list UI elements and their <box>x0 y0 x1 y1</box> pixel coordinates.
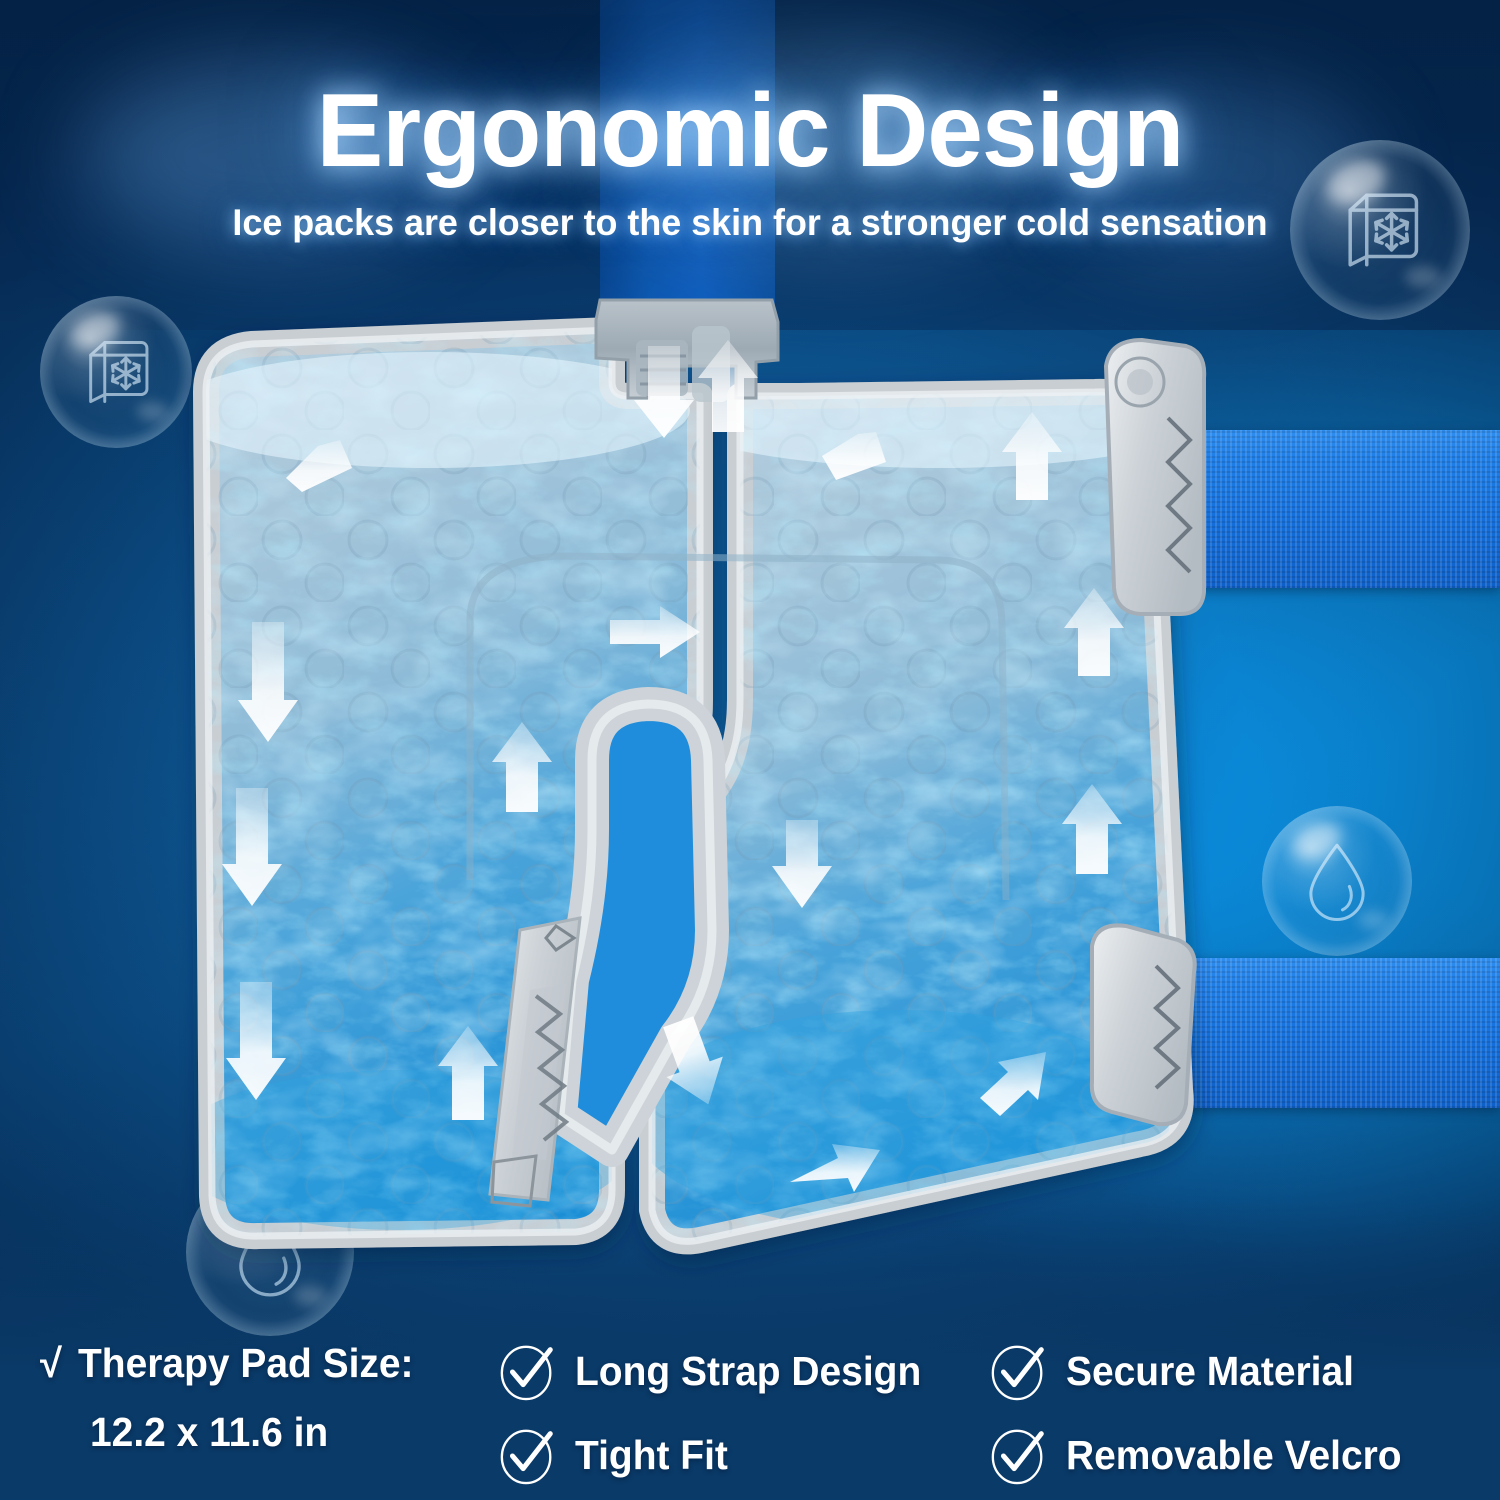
heading-block: Ergonomic Design Ice packs are closer to… <box>0 78 1500 244</box>
circled-check-icon <box>988 1424 1050 1486</box>
feature-label: Removable Velcro <box>1066 1432 1402 1479</box>
page-title: Ergonomic Design <box>30 78 1470 184</box>
feature-item: Secure Material <box>988 1340 1460 1402</box>
feature-column-2: Long Strap Design Tight Fit <box>497 1340 988 1486</box>
feature-item: Tight Fit <box>497 1424 988 1486</box>
circled-check-icon <box>988 1340 1050 1402</box>
check-glyph-icon: √ <box>40 1344 62 1384</box>
upper-strap-tab <box>1106 340 1204 614</box>
feature-item: Long Strap Design <box>497 1340 988 1402</box>
feature-label: Therapy Pad Size: <box>78 1340 414 1387</box>
feature-column-1: √ Therapy Pad Size: 12.2 x 11.6 in <box>40 1340 497 1456</box>
feature-item: 12.2 x 11.6 in <box>40 1409 497 1456</box>
feature-item: √ Therapy Pad Size: <box>40 1340 497 1387</box>
page-subtitle: Ice packs are closer to the skin for a s… <box>23 202 1478 244</box>
feature-label: 12.2 x 11.6 in <box>90 1409 328 1456</box>
circled-check-icon <box>497 1424 559 1486</box>
feature-item: Removable Velcro <box>988 1424 1460 1486</box>
lower-strap-tab <box>1092 925 1195 1124</box>
feature-label: Long Strap Design <box>575 1348 921 1395</box>
feature-list: √ Therapy Pad Size: 12.2 x 11.6 in Long … <box>0 1340 1500 1486</box>
circled-check-icon <box>497 1340 559 1402</box>
poster-canvas: Ergonomic Design Ice packs are closer to… <box>0 0 1500 1500</box>
feature-label: Secure Material <box>1066 1348 1354 1395</box>
feature-label: Tight Fit <box>575 1432 728 1479</box>
feature-column-3: Secure Material Removable Velcro <box>988 1340 1460 1486</box>
